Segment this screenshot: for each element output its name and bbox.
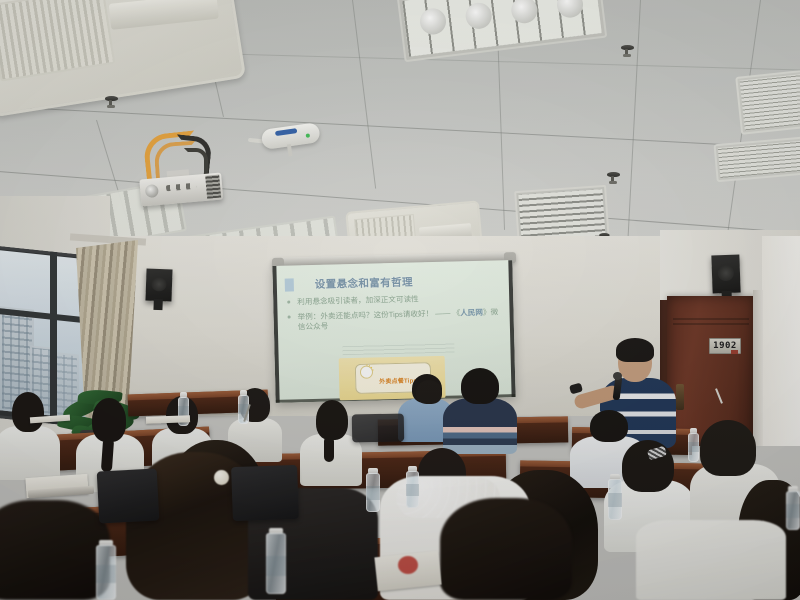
slide-bullet-1: 利用悬念吸引读者，加深正文可读性	[297, 292, 499, 307]
attendee-hair	[416, 380, 442, 404]
attendee-shirt	[443, 398, 517, 454]
fire-sprinkler-icon	[620, 45, 634, 55]
slide-title-accent-bar	[285, 278, 294, 291]
attendee-hair	[316, 400, 348, 440]
ceiling-light-grille	[397, 0, 608, 62]
ceiling-air-vent-right-lower	[714, 136, 800, 183]
door-room-number-sign: 1902	[709, 338, 741, 354]
ac-louvre	[109, 0, 219, 30]
attendee-hair	[622, 440, 674, 492]
attendee-hair	[12, 392, 44, 432]
attendee-striped-polo	[443, 368, 517, 446]
slide-title: 设置悬念和富有哲理	[315, 272, 499, 291]
hair-tie-bead	[214, 470, 229, 485]
chair-back	[231, 465, 299, 521]
water-bottle	[786, 486, 800, 530]
fire-sprinkler-icon	[104, 96, 118, 106]
conference-room-photo: 设置悬念和富有哲理 利用悬念吸引读者，加深正文可读性 举例：外卖还能点吗？这份T…	[0, 0, 800, 600]
attendee-hair	[440, 498, 572, 600]
slide-bullet-2: 举例：外卖还能点吗？这份Tips请收好！ —— 《人民网》微信公众号	[298, 307, 500, 332]
presenter-hair	[616, 338, 654, 362]
water-bottle	[266, 528, 286, 594]
attendee-hair	[590, 410, 628, 442]
wall-speaker-right	[711, 255, 740, 294]
ac-grille	[0, 0, 115, 82]
chair-back	[97, 468, 160, 523]
attendee-ponytail	[101, 438, 114, 473]
attendee-left-1	[0, 392, 60, 472]
attendee-hair	[92, 398, 126, 442]
attendee-front-far-right	[636, 520, 786, 600]
attendee-hair	[700, 420, 756, 476]
chair-back	[352, 414, 404, 443]
attendee-ponytail	[324, 436, 334, 462]
water-bottle	[366, 468, 380, 512]
water-bottle	[688, 428, 699, 462]
attendee-hair	[461, 368, 499, 404]
ceiling-cassette-air-conditioner	[0, 0, 246, 117]
attendee-hair	[0, 500, 110, 600]
slide-image-caption	[342, 342, 454, 356]
ceiling-air-vent-right-upper	[735, 67, 800, 135]
attendee-blouse	[0, 426, 60, 480]
water-bottle	[406, 466, 419, 508]
microphone-head-icon	[613, 372, 622, 380]
red-item-on-desk	[398, 556, 418, 574]
attendee-front-right-dark	[440, 498, 572, 600]
water-bottle	[608, 474, 622, 520]
attendee-blouse	[636, 520, 786, 600]
water-bottle	[96, 540, 116, 600]
attendee-front-left	[0, 500, 110, 600]
wall-speaker-left	[145, 269, 172, 302]
right-wall-corner	[762, 236, 800, 446]
attendee-back-left	[416, 380, 442, 410]
wifi-access-point	[261, 122, 322, 154]
fire-sprinkler-icon	[606, 172, 620, 182]
ceiling-projector	[139, 164, 224, 207]
